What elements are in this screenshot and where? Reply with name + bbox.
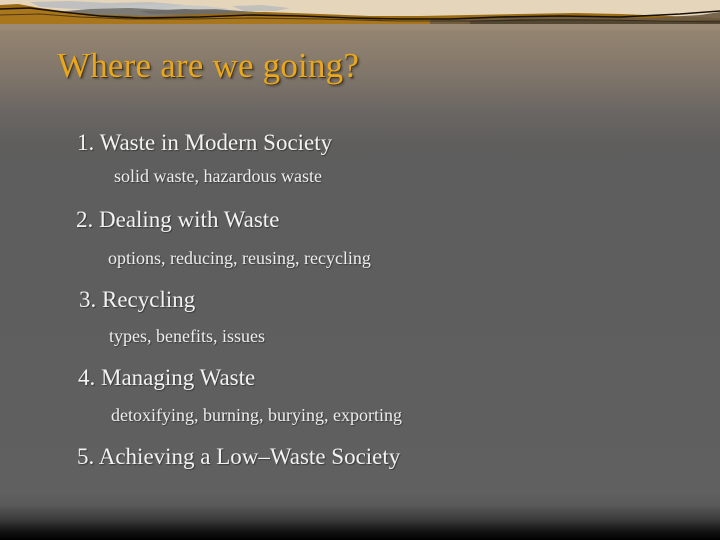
outline-item-3-subtitle: types, benefits, issues bbox=[0, 324, 720, 349]
outline-item-4: 4. Managing Waste detoxifying, burning, … bbox=[0, 363, 720, 428]
outline-item-1: 1. Waste in Modern Society solid waste, … bbox=[0, 128, 720, 189]
slide-title: Where are we going? bbox=[57, 45, 677, 87]
slide-outline-list: 1. Waste in Modern Society solid waste, … bbox=[0, 118, 720, 472]
outline-item-5: 5. Achieving a Low–Waste Society bbox=[0, 442, 720, 472]
outline-item-2-subtitle: options, reducing, reusing, recycling bbox=[0, 246, 720, 271]
outline-item-2: 2. Dealing with Waste options, reducing,… bbox=[0, 205, 720, 271]
outline-item-1-subtitle: solid waste, hazardous waste bbox=[0, 164, 720, 189]
header-landscape-banner bbox=[0, 0, 720, 30]
outline-item-3: 3. Recycling types, benefits, issues bbox=[0, 285, 720, 349]
outline-item-2-title: 2. Dealing with Waste bbox=[0, 205, 720, 235]
presentation-slide: Where are we going? 1. Waste in Modern S… bbox=[0, 0, 720, 540]
banner-base-blend bbox=[0, 24, 720, 30]
outline-item-4-subtitle: detoxifying, burning, burying, exporting bbox=[0, 403, 720, 428]
outline-item-4-title: 4. Managing Waste bbox=[0, 363, 720, 393]
outline-item-3-title: 3. Recycling bbox=[0, 285, 720, 315]
landscape-banner-graphic bbox=[0, 0, 720, 30]
outline-item-1-title: 1. Waste in Modern Society bbox=[0, 128, 720, 158]
outline-item-5-title: 5. Achieving a Low–Waste Society bbox=[0, 442, 720, 472]
